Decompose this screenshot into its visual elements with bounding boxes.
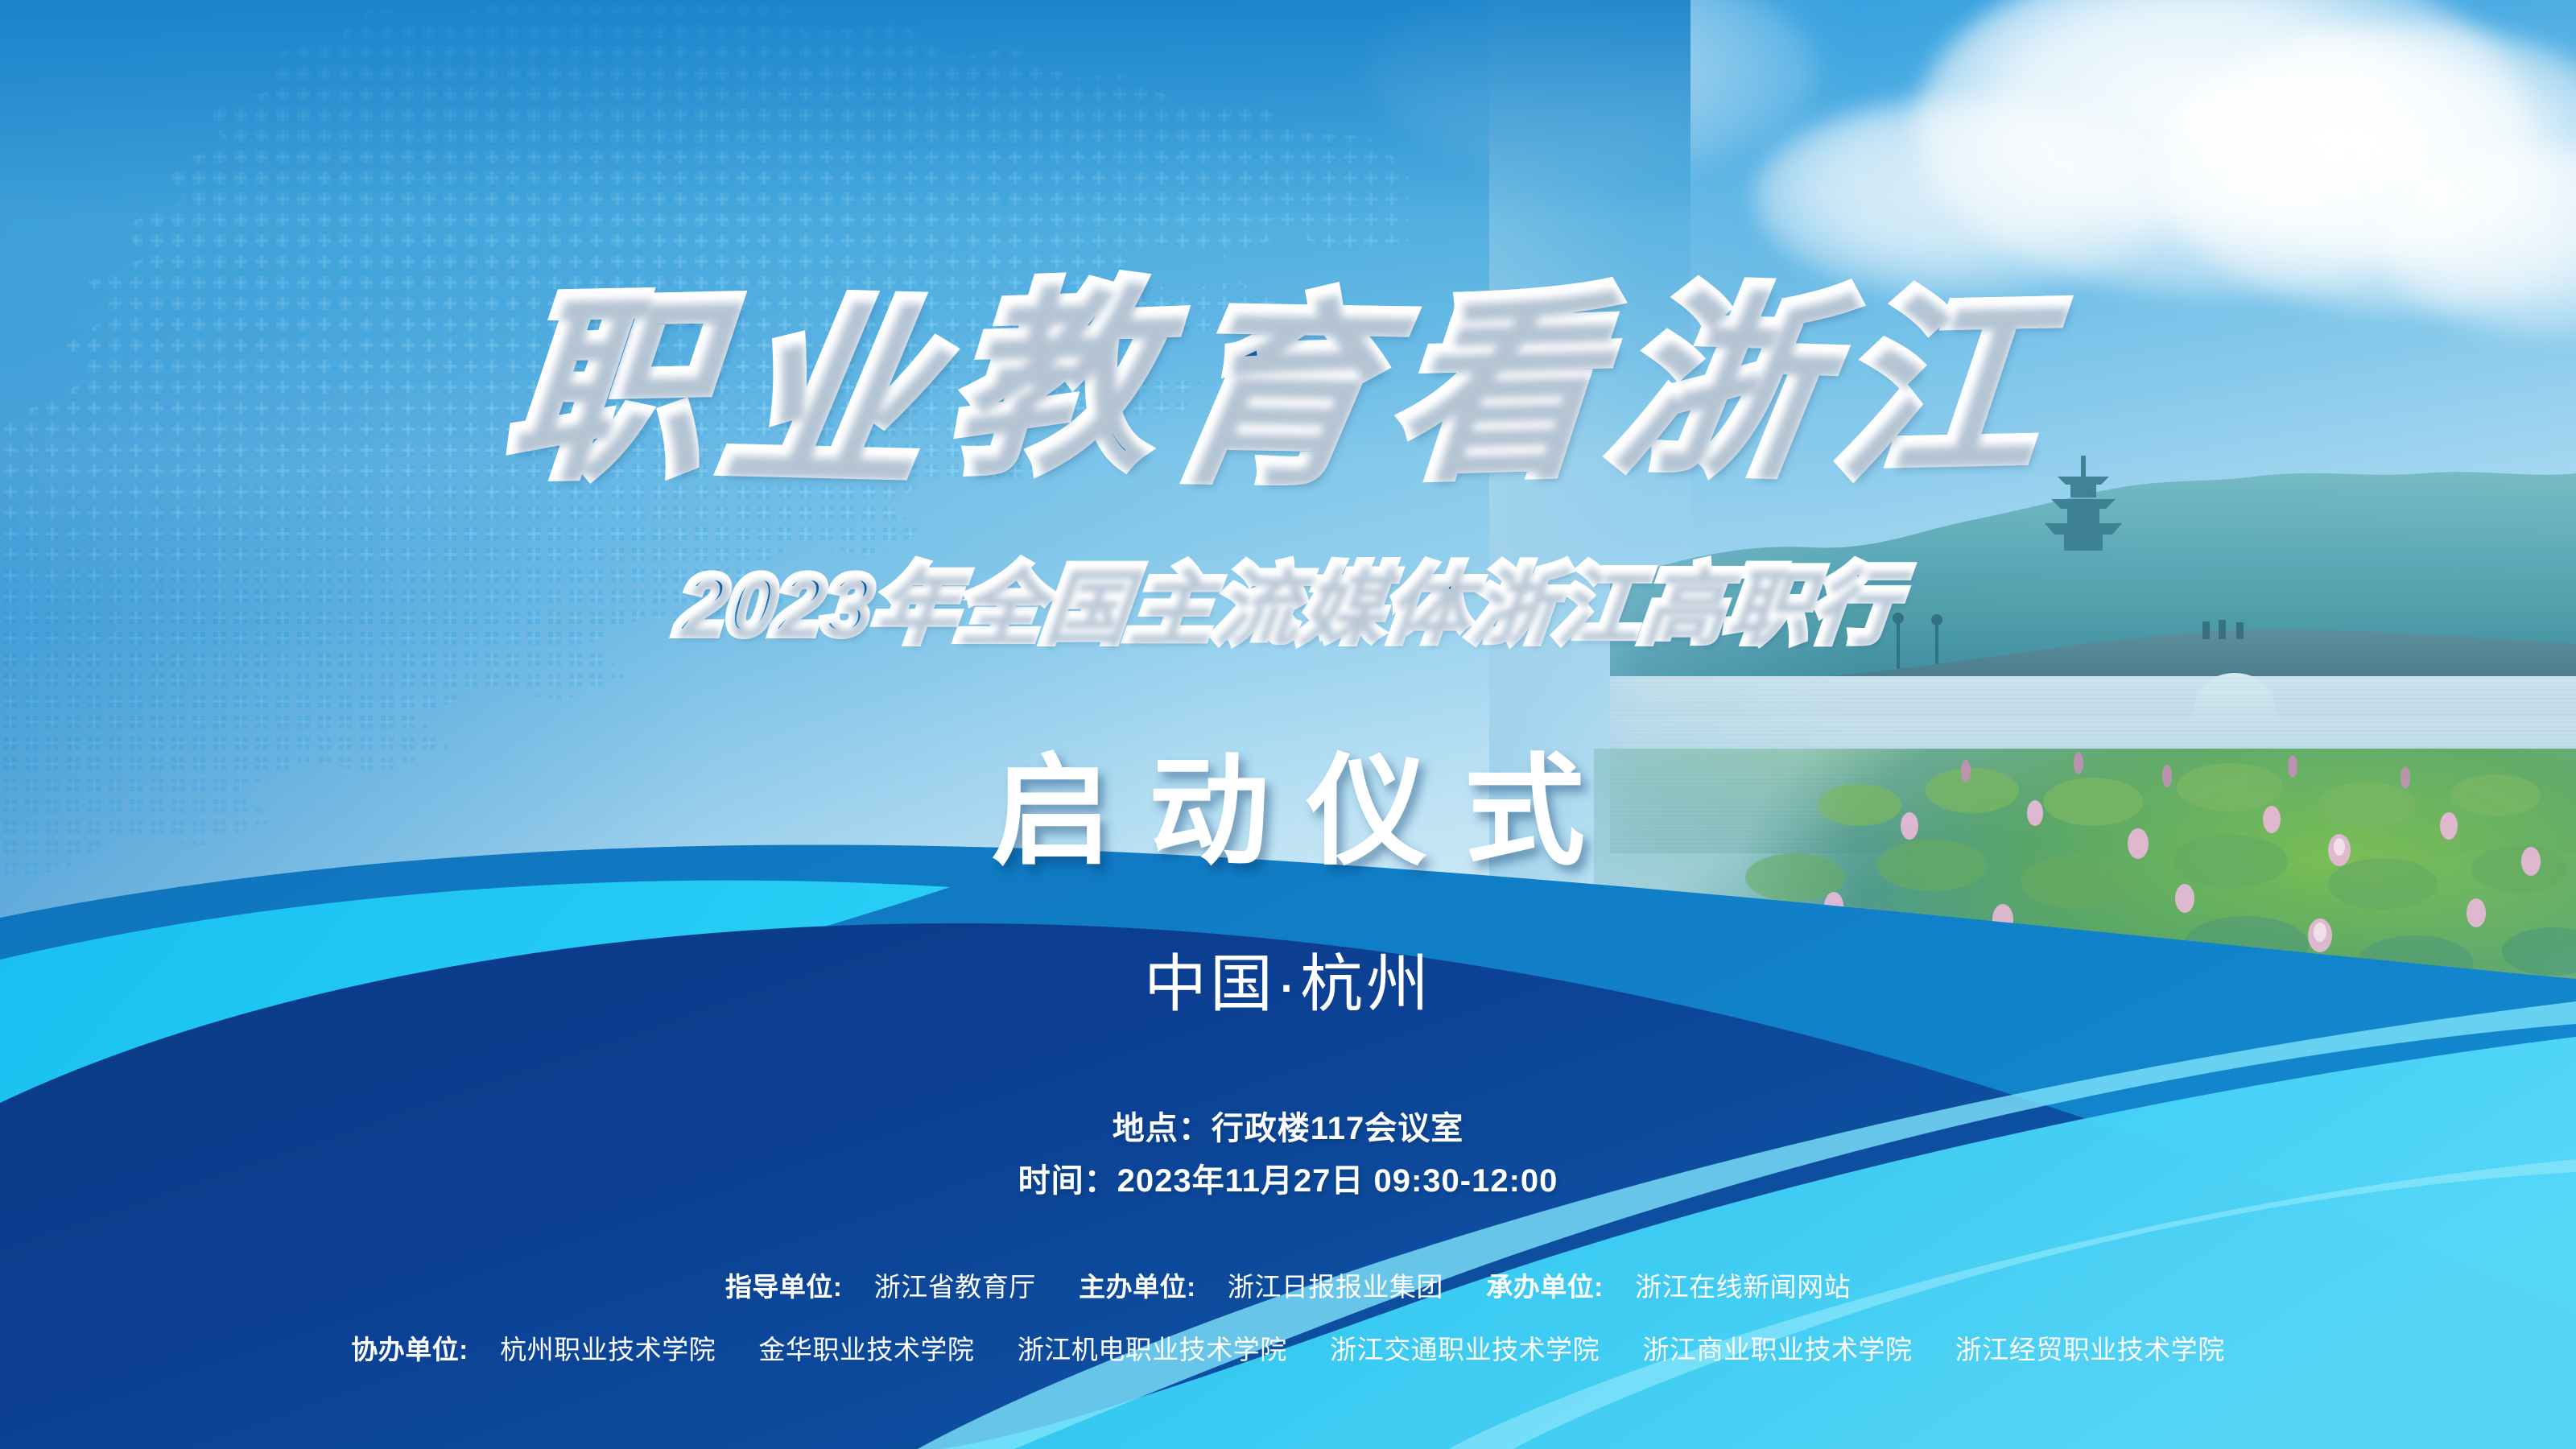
coorganizer-value: 浙江经贸职业技术学院 bbox=[1955, 1335, 2225, 1364]
credits-row-coorganizers: 协办单位: 杭州职业技术学院 金华职业技术学院 浙江机电职业技术学院 浙江交通职… bbox=[0, 1319, 2576, 1381]
calligraphy-char: 业 bbox=[712, 292, 943, 497]
page-title: 启动仪式 bbox=[0, 749, 2576, 876]
event-city: 中国·杭州 bbox=[0, 934, 2576, 1024]
credits-row-primary: 指导单位: 浙江省教育厅 主办单位: 浙江日报报业集团 承办单位: 浙江在线新闻… bbox=[0, 1256, 2576, 1319]
coorganizer-label: 协办单位: bbox=[351, 1335, 469, 1364]
calligraphy-char: 育 bbox=[1154, 290, 1388, 493]
guidance-unit-value: 浙江省教育厅 bbox=[874, 1272, 1036, 1302]
coorganizer-value: 金华职业技术学院 bbox=[758, 1335, 974, 1364]
calligraphy-char: 浙 bbox=[1601, 280, 1831, 486]
host-unit-label: 主办单位: bbox=[1079, 1272, 1196, 1302]
calligraphy-char: 教 bbox=[945, 277, 1156, 484]
calligraphy-char: 江 bbox=[1828, 284, 2045, 488]
organizer-credits: 指导单位: 浙江省教育厅 主办单位: 浙江日报报业集团 承办单位: 浙江在线新闻… bbox=[0, 1256, 2576, 1381]
guidance-unit-label: 指导单位: bbox=[725, 1272, 843, 1302]
calligraphy-char: 看 bbox=[1385, 284, 1601, 489]
calligraphy-title: 职 业 教 育 看 浙 江 bbox=[507, 266, 2037, 507]
coorganizer-value: 浙江交通职业技术学院 bbox=[1330, 1335, 1600, 1364]
organizer-unit-value: 浙江在线新闻网站 bbox=[1635, 1272, 1851, 1302]
event-poster: 职 业 教 育 看 浙 江 2023年全国主流媒体浙江高职行 启动仪式 中国·杭… bbox=[0, 0, 2576, 1449]
venue-line: 地点：行政楼117会议室 bbox=[0, 1103, 2576, 1155]
event-details: 地点：行政楼117会议室 时间：2023年11月27日 09:30-12:00 bbox=[0, 1103, 2576, 1207]
coorganizer-value: 浙江商业职业技术学院 bbox=[1642, 1335, 1912, 1364]
time-line: 时间：2023年11月27日 09:30-12:00 bbox=[0, 1155, 2576, 1207]
event-subtitle: 2023年全国主流媒体浙江高职行 bbox=[0, 563, 2576, 647]
coorganizer-value: 杭州职业技术学院 bbox=[500, 1335, 716, 1364]
calligraphy-char: 职 bbox=[498, 284, 715, 488]
organizer-unit-label: 承办单位: bbox=[1486, 1272, 1604, 1302]
poster-content: 职 业 教 育 看 浙 江 2023年全国主流媒体浙江高职行 启动仪式 中国·杭… bbox=[0, 0, 2576, 1449]
coorganizer-value: 浙江机电职业技术学院 bbox=[1018, 1335, 1287, 1364]
host-unit-value: 浙江日报报业集团 bbox=[1228, 1272, 1443, 1302]
